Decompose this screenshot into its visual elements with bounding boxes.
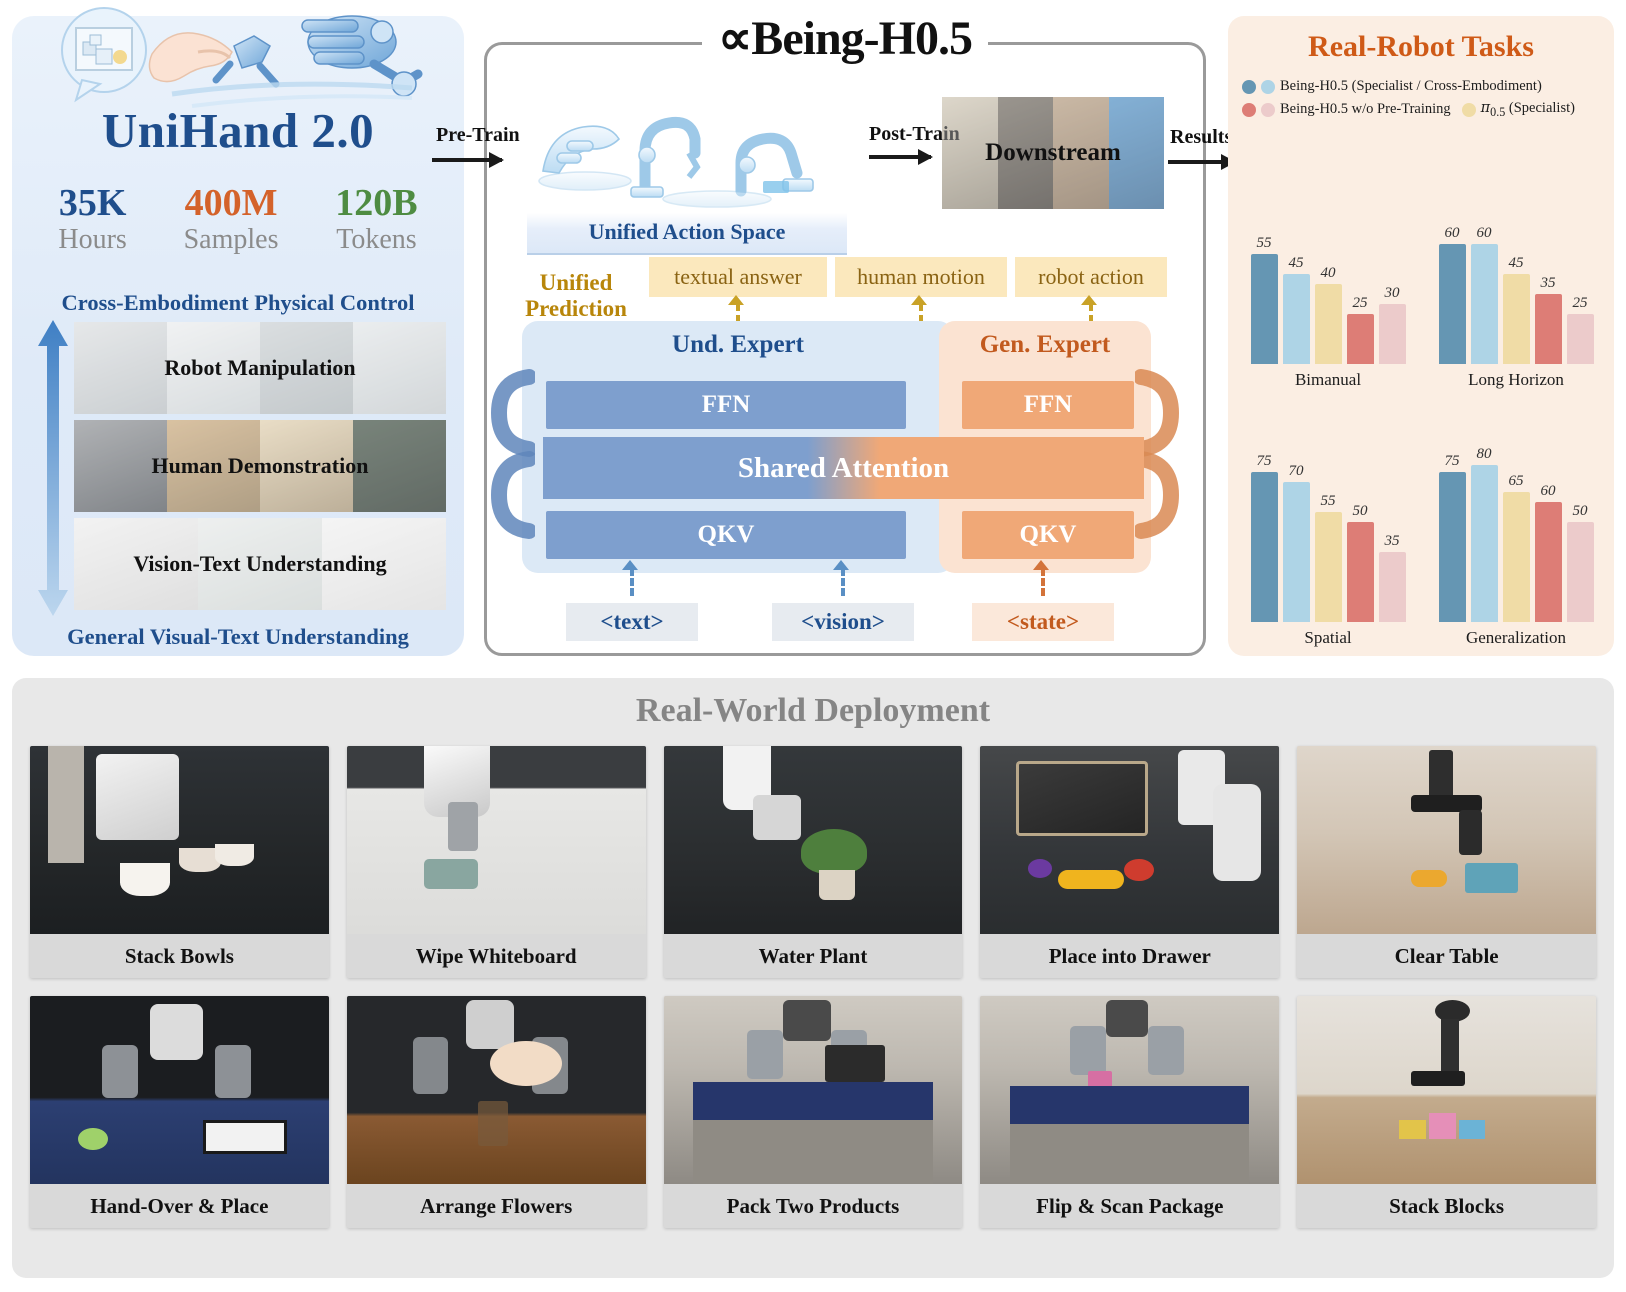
dash-line-vision: [841, 568, 845, 596]
stat-tokens-label: Tokens: [335, 224, 417, 256]
architecture-title: ∝Being-H0.5: [484, 10, 1206, 66]
bar-group: 50: [1347, 446, 1374, 622]
card-caption: Clear Table: [1297, 934, 1596, 978]
bar: [1283, 482, 1310, 622]
deployment-card-water-plant[interactable]: Water Plant: [664, 746, 963, 978]
stat-samples: 400M Samples: [184, 184, 279, 256]
card-image: [980, 746, 1279, 934]
card-caption: Water Plant: [664, 934, 963, 978]
bar: [1567, 314, 1594, 364]
charts-title: Real-Robot Tasks: [1228, 30, 1614, 64]
bars-long-horizon: 60 60 45 35 25: [1422, 188, 1610, 364]
stats-row: 35K Hours 400M Samples 120B Tokens: [12, 184, 464, 256]
unihand-panel: UniHand 2.0 35K Hours 400M Samples 120B …: [12, 16, 464, 656]
stat-hours-label: Hours: [58, 224, 126, 256]
bar: [1379, 304, 1406, 364]
bar: [1471, 465, 1498, 622]
hand-reach-icon: [52, 2, 424, 118]
legend-dot-specialist: [1242, 80, 1256, 94]
bar-value: 60: [1445, 225, 1460, 242]
bar-group: 40: [1315, 188, 1342, 364]
card-caption: Hand-Over & Place: [30, 1184, 329, 1228]
gen-qkv-block: QKV: [962, 511, 1134, 559]
prediction-chip-textual-answer: textual answer: [649, 257, 827, 297]
bar: [1503, 492, 1530, 622]
bar: [1379, 552, 1406, 622]
bar-value: 45: [1509, 255, 1524, 272]
bar-value: 60: [1477, 225, 1492, 242]
bar-group: 60: [1535, 446, 1562, 622]
legend-label-1: Being-H0.5 (Specialist / Cross-Embodimen…: [1280, 78, 1542, 95]
dash-line-action: [1089, 303, 1093, 323]
stat-hours-value: 35K: [58, 184, 126, 224]
bar-group: 25: [1567, 188, 1594, 364]
bar-group: 50: [1567, 446, 1594, 622]
deployment-card-hand-over-place[interactable]: Hand-Over & Place: [30, 996, 329, 1228]
chart-legend: Being-H0.5 (Specialist / Cross-Embodimen…: [1242, 78, 1614, 125]
bar-value: 55: [1321, 493, 1336, 510]
chart-spatial: 75 70 55 50 35 Spatial: [1234, 392, 1422, 650]
legend-pi-tail: (Specialist): [1505, 100, 1575, 116]
card-image: [347, 996, 646, 1184]
legend-label-2: Being-H0.5 w/o Pre-Training: [1280, 101, 1451, 118]
deployment-card-clear-table[interactable]: Clear Table: [1297, 746, 1596, 978]
bar-group: 25: [1347, 188, 1374, 364]
bar-group: 60: [1439, 188, 1466, 364]
deployment-card-pack-two-products[interactable]: Pack Two Products: [664, 996, 963, 1228]
deployment-card-stack-blocks[interactable]: Stack Blocks: [1297, 996, 1596, 1228]
card-image: [1297, 996, 1596, 1184]
card-image: [664, 746, 963, 934]
bar-group: 45: [1503, 188, 1530, 364]
bar-group: 55: [1251, 188, 1278, 364]
prediction-chip-robot-action: robot action: [1015, 257, 1167, 297]
bar-value: 30: [1385, 285, 1400, 302]
strip-robot-manipulation: Robot Manipulation: [74, 322, 446, 414]
architecture-title-text: ∝Being-H0.5: [702, 10, 988, 66]
bar-group: 65: [1503, 446, 1530, 622]
bar: [1471, 244, 1498, 364]
und-ffn-block: FFN: [546, 381, 906, 429]
bidirectional-arrow-icon: [38, 320, 68, 616]
bar-value: 75: [1257, 453, 1272, 470]
chart-generalization: 75 80 65 60 50 Generalization: [1422, 392, 1610, 650]
bar: [1439, 472, 1466, 622]
legend-pi-symbol: π: [1481, 100, 1491, 116]
gen-ffn-block: FFN: [962, 381, 1134, 429]
bar-value: 25: [1573, 295, 1588, 312]
bar-value: 45: [1289, 255, 1304, 272]
dash-arrow-action-icon: [1081, 295, 1097, 305]
legend-pi-subscript: 0.5: [1490, 105, 1505, 119]
bar-group: 70: [1283, 446, 1310, 622]
token-chip-vision: <vision>: [772, 603, 914, 641]
bars-spatial: 75 70 55 50 35: [1234, 446, 1422, 622]
gen-expert-title: Gen. Expert: [939, 331, 1151, 359]
unified-prediction-line2: Prediction: [525, 296, 627, 321]
axis-bottom-label: General Visual-Text Understanding: [12, 624, 464, 650]
real-robot-tasks-panel: Real-Robot Tasks Being-H0.5 (Specialist …: [1228, 16, 1614, 656]
legend-dot-no-pretrain-light: [1261, 103, 1275, 117]
dash-line-textual: [736, 303, 740, 323]
bar: [1251, 472, 1278, 622]
bar-group: 35: [1535, 188, 1562, 364]
bar: [1283, 274, 1310, 364]
results-label: Results: [1170, 126, 1232, 149]
deployment-card-wipe-whiteboard[interactable]: Wipe Whiteboard: [347, 746, 646, 978]
bar-group: 30: [1379, 188, 1406, 364]
axis-top-label: Cross-Embodiment Physical Control: [12, 290, 464, 316]
unified-prediction-label: Unified Prediction: [501, 270, 651, 322]
chart-long-horizon: 60 60 45 35 25 Long Horizon: [1422, 134, 1610, 392]
token-chip-state: <state>: [972, 603, 1114, 641]
bar: [1567, 522, 1594, 622]
shared-attention-block: Shared Attention: [543, 437, 1144, 499]
bar-group: 45: [1283, 188, 1310, 364]
category-label-generalization: Generalization: [1422, 628, 1610, 648]
dash-line-motion: [919, 303, 923, 323]
downstream-label: Downstream: [942, 97, 1164, 209]
dash-arrow-state-icon: [1033, 560, 1049, 570]
strip-label: Vision-Text Understanding: [133, 551, 386, 577]
card-image: [30, 746, 329, 934]
deployment-card-stack-bowls[interactable]: Stack Bowls: [30, 746, 329, 978]
bar: [1347, 522, 1374, 622]
card-caption: Place into Drawer: [980, 934, 1279, 978]
bar-value: 40: [1321, 265, 1336, 282]
strip-label: Human Demonstration: [152, 453, 369, 479]
category-label-bimanual: Bimanual: [1234, 370, 1422, 390]
bar-value: 55: [1257, 235, 1272, 252]
charts-grid: 55 45 40 25 30 Bimanual 60 60 45 35 25 L…: [1234, 134, 1610, 650]
bar-value: 50: [1573, 503, 1588, 520]
card-image: [347, 746, 646, 934]
legend-label-3: π0.5 (Specialist): [1481, 100, 1575, 120]
bar-group: 75: [1439, 446, 1466, 622]
unified-prediction-line1: Unified: [540, 270, 613, 295]
unihand-title: UniHand 2.0: [12, 102, 464, 159]
deployment-cards-grid: Stack Bowls Wipe Whiteboard Water Plant: [30, 746, 1596, 1228]
card-image: [664, 996, 963, 1184]
bar-value: 35: [1541, 275, 1556, 292]
pre-train-arrow-icon: [432, 158, 502, 162]
results-arrow-icon: [1168, 160, 1234, 164]
card-caption: Arrange Flowers: [347, 1184, 646, 1228]
deployment-card-flip-scan-package[interactable]: Flip & Scan Package: [980, 996, 1279, 1228]
bar: [1503, 274, 1530, 364]
dash-line-text: [630, 568, 634, 596]
category-label-long-horizon: Long Horizon: [1422, 370, 1610, 390]
card-image: [30, 996, 329, 1184]
pre-train-label: Pre-Train: [436, 124, 520, 147]
dash-arrow-text-icon: [622, 560, 638, 570]
card-caption: Wipe Whiteboard: [347, 934, 646, 978]
legend-dot-pi05: [1462, 103, 1476, 117]
bar-group: 60: [1471, 188, 1498, 364]
bars-generalization: 75 80 65 60 50: [1422, 446, 1610, 622]
bar-value: 80: [1477, 446, 1492, 463]
bar-value: 25: [1353, 295, 1368, 312]
und-expert-title: Und. Expert: [522, 331, 954, 359]
bar-value: 35: [1385, 533, 1400, 550]
bar: [1251, 254, 1278, 364]
bar-group: 80: [1471, 446, 1498, 622]
card-image: [1297, 746, 1596, 934]
stat-samples-value: 400M: [184, 184, 279, 224]
unified-action-space-box: Unified Action Space: [527, 95, 847, 263]
bar: [1315, 284, 1342, 364]
card-image: [980, 996, 1279, 1184]
legend-row-1: Being-H0.5 (Specialist / Cross-Embodimen…: [1242, 78, 1614, 95]
und-qkv-block: QKV: [546, 511, 906, 559]
stat-tokens-value: 120B: [335, 184, 417, 224]
strip-human-demonstration: Human Demonstration: [74, 420, 446, 512]
post-train-arrow-icon: [869, 155, 931, 159]
legend-row-2: Being-H0.5 w/o Pre-Training π0.5 (Specia…: [1242, 100, 1614, 120]
bar-value: 50: [1353, 503, 1368, 520]
bar: [1347, 314, 1374, 364]
real-world-deployment-panel: Real-World Deployment Stack Bowls Wipe W…: [12, 678, 1614, 1278]
card-caption: Flip & Scan Package: [980, 1184, 1279, 1228]
category-label-spatial: Spatial: [1234, 628, 1422, 648]
und-recurrence-arrows-icon: [489, 355, 535, 555]
legend-dot-no-pretrain: [1242, 103, 1256, 117]
bar-group: 35: [1379, 446, 1406, 622]
bar-group: 75: [1251, 446, 1278, 622]
card-caption: Stack Bowls: [30, 934, 329, 978]
dash-line-state: [1041, 568, 1045, 596]
bars-bimanual: 55 45 40 25 30: [1234, 188, 1422, 364]
bar-value: 60: [1541, 483, 1556, 500]
deployment-title: Real-World Deployment: [12, 692, 1614, 730]
top-row: UniHand 2.0 35K Hours 400M Samples 120B …: [0, 0, 1626, 672]
bar-value: 75: [1445, 453, 1460, 470]
strip-label: Robot Manipulation: [164, 355, 355, 381]
deployment-card-arrange-flowers[interactable]: Arrange Flowers: [347, 996, 646, 1228]
token-chip-text: <text>: [566, 603, 698, 641]
stat-samples-label: Samples: [184, 224, 279, 256]
unified-action-space-caption: Unified Action Space: [527, 213, 847, 255]
dash-arrow-motion-icon: [911, 295, 927, 305]
prediction-chip-human-motion: human motion: [835, 257, 1007, 297]
chart-bimanual: 55 45 40 25 30 Bimanual: [1234, 134, 1422, 392]
bar-value: 65: [1509, 473, 1524, 490]
modality-strip-stack: Robot Manipulation Human Demonstration: [74, 322, 446, 616]
bar: [1535, 502, 1562, 622]
strip-vision-text-understanding: Vision-Text Understanding: [74, 518, 446, 610]
legend-dot-cross-embodiment: [1261, 80, 1275, 94]
bar: [1439, 244, 1466, 364]
downstream-images: Downstream: [942, 97, 1164, 209]
bar-value: 70: [1289, 463, 1304, 480]
bar-group: 55: [1315, 446, 1342, 622]
deployment-card-place-into-drawer[interactable]: Place into Drawer: [980, 746, 1279, 978]
card-caption: Pack Two Products: [664, 1184, 963, 1228]
card-caption: Stack Blocks: [1297, 1184, 1596, 1228]
dash-arrow-vision-icon: [833, 560, 849, 570]
bar: [1315, 512, 1342, 622]
stat-tokens: 120B Tokens: [335, 184, 417, 256]
dash-arrow-textual-icon: [728, 295, 744, 305]
robot-arms-illustration: [527, 95, 847, 215]
bar: [1535, 294, 1562, 364]
stat-hours: 35K Hours: [58, 184, 126, 256]
